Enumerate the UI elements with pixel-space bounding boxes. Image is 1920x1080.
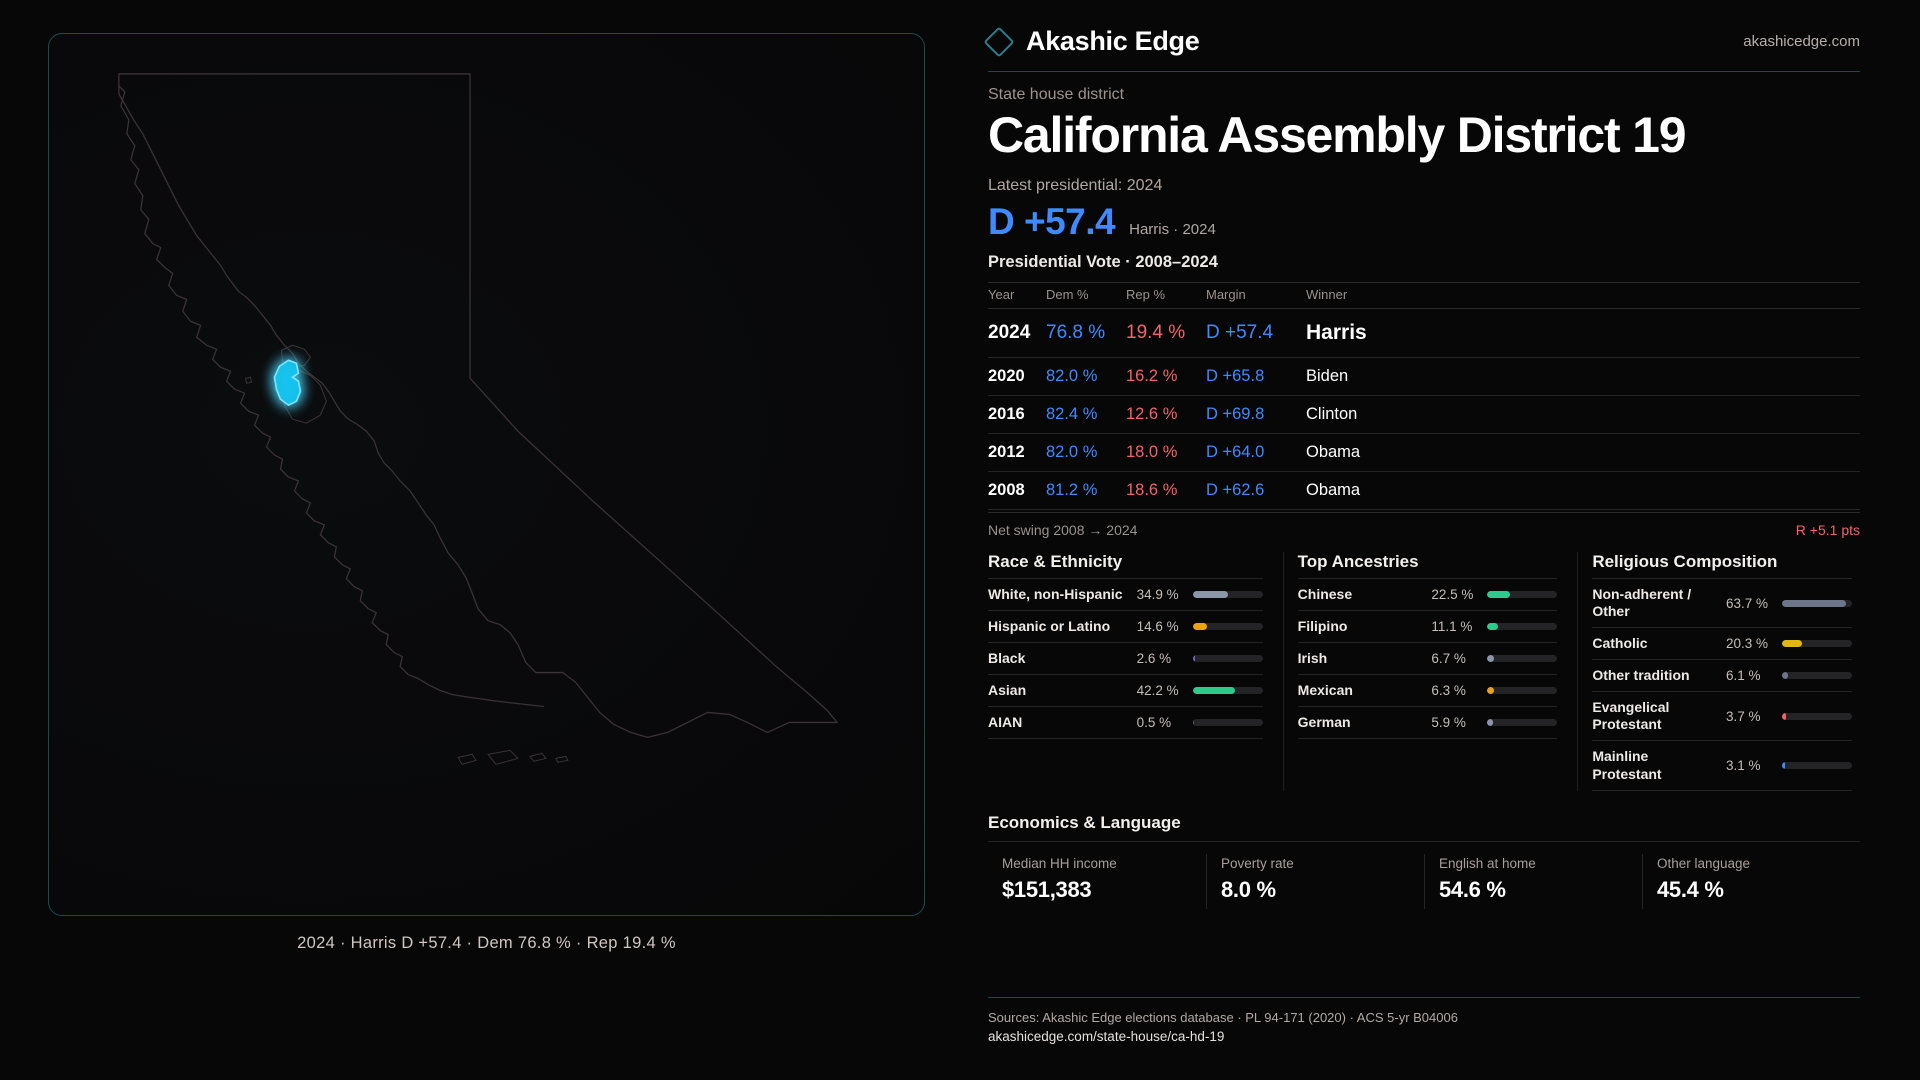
california-map-svg (49, 34, 924, 915)
demo-label: Mainline Protestant (1592, 748, 1726, 782)
econ-stat-label: English at home (1439, 856, 1628, 871)
cell-margin: D +64.0 (1206, 434, 1306, 472)
econ-stat-value: $151,383 (1002, 877, 1192, 903)
cell-dem: 82.4 % (1046, 396, 1126, 434)
demo-bar-track (1487, 719, 1557, 726)
table-row: 200881.2 %18.6 %D +62.6Obama (988, 472, 1860, 510)
cell-rep: 19.4 % (1126, 309, 1206, 358)
demo-label: Mexican (1298, 682, 1432, 699)
demo-bar-fill (1193, 687, 1235, 694)
map-caption: 2024 · Harris D +57.4 · Dem 76.8 % · Rep… (48, 934, 925, 953)
cell-year: 2020 (988, 358, 1046, 396)
demo-value: 20.3 % (1726, 636, 1782, 651)
demo-bar-track (1782, 762, 1852, 769)
demo-bar-fill (1193, 623, 1208, 630)
demo-bar-track (1487, 623, 1557, 630)
net-swing-label: Net swing 2008 → 2024 (988, 522, 1137, 538)
economics-title: Economics & Language (988, 813, 1860, 833)
footer-url[interactable]: akashicedge.com/state-house/ca-hd-19 (988, 1029, 1860, 1044)
demo-value: 11.1 % (1431, 619, 1487, 634)
cell-year: 2012 (988, 434, 1046, 472)
lake-tahoe (246, 377, 252, 383)
info-panel: Akashic Edge akashicedge.com State house… (960, 0, 1920, 1080)
demo-bar-track (1782, 640, 1852, 647)
demo-row: AIAN0.5 % (988, 706, 1263, 739)
demo-column-title: Race & Ethnicity (988, 552, 1263, 572)
col-rep: Rep % (1126, 283, 1206, 309)
demo-bar-fill (1487, 687, 1493, 694)
demo-bar-fill (1782, 600, 1846, 607)
demo-bar-fill (1487, 719, 1493, 726)
econ-stat: Median HH income$151,383 (988, 854, 1206, 909)
demo-value: 34.9 % (1137, 587, 1193, 602)
cell-margin: D +69.8 (1206, 396, 1306, 434)
demo-value: 2.6 % (1137, 651, 1193, 666)
demo-column: Top AncestriesChinese22.5 %Filipino11.1 … (1283, 552, 1566, 791)
econ-stat-label: Poverty rate (1221, 856, 1410, 871)
latest-presidential-label: Latest presidential: 2024 (988, 177, 1860, 195)
vote-table-body: 202476.8 %19.4 %D +57.4Harris202082.0 %1… (988, 309, 1860, 510)
demo-label: Asian (988, 682, 1137, 699)
margin-winner-year: Harris · 2024 (1129, 221, 1216, 238)
demo-label: White, non-Hispanic (988, 586, 1137, 603)
demo-bar-fill (1487, 623, 1498, 630)
econ-stat: English at home54.6 % (1424, 854, 1642, 909)
report-page: 2024 · Harris D +57.4 · Dem 76.8 % · Rep… (0, 0, 1920, 1080)
map-column: 2024 · Harris D +57.4 · Dem 76.8 % · Rep… (0, 0, 960, 1080)
demo-label: Hispanic or Latino (988, 618, 1137, 635)
table-row: 201282.0 %18.0 %D +64.0Obama (988, 434, 1860, 472)
demo-bar-track (1487, 655, 1557, 662)
demo-label: Non-adherent / Other (1592, 586, 1726, 620)
demo-bar-track (1193, 655, 1263, 662)
econ-stat-value: 54.6 % (1439, 877, 1628, 903)
econ-stat-value: 45.4 % (1657, 877, 1846, 903)
econ-stat: Other language45.4 % (1642, 854, 1860, 909)
net-swing-row: Net swing 2008 → 2024 R +5.1 pts (988, 512, 1860, 538)
demo-label: German (1298, 714, 1432, 731)
cell-margin: D +62.6 (1206, 472, 1306, 510)
demo-bar-fill (1782, 640, 1802, 647)
state-outline (119, 74, 837, 737)
demo-bar-track (1487, 591, 1557, 598)
demo-value: 3.1 % (1726, 758, 1782, 773)
sources-footer: Sources: Akashic Edge elections database… (988, 997, 1860, 1044)
headline-margin: D +57.4 Harris · 2024 (988, 201, 1860, 243)
demo-label: Black (988, 650, 1137, 667)
economics-grid: Median HH income$151,383Poverty rate8.0 … (988, 841, 1860, 909)
cell-rep: 18.0 % (1126, 434, 1206, 472)
cell-rep: 18.6 % (1126, 472, 1206, 510)
page-title: California Assembly District 19 (988, 108, 1860, 163)
cell-rep: 16.2 % (1126, 358, 1206, 396)
demo-row: Catholic20.3 % (1592, 627, 1852, 659)
econ-stat-label: Other language (1657, 856, 1846, 871)
cell-winner: Clinton (1306, 396, 1860, 434)
demo-bar-fill (1782, 672, 1788, 679)
cell-dem: 76.8 % (1046, 309, 1126, 358)
demo-bar-fill (1193, 591, 1228, 598)
demo-value: 63.7 % (1726, 596, 1782, 611)
demo-label: Catholic (1592, 635, 1726, 652)
demo-row: Mexican6.3 % (1298, 674, 1558, 706)
cell-dem: 81.2 % (1046, 472, 1126, 510)
demo-bar-fill (1487, 655, 1494, 662)
demo-bar-track (1193, 687, 1263, 694)
demo-value: 5.9 % (1431, 715, 1487, 730)
demo-bar-track (1782, 713, 1852, 720)
demo-row: White, non-Hispanic34.9 % (988, 578, 1263, 610)
net-swing-value: R +5.1 pts (1796, 522, 1860, 538)
cell-rep: 12.6 % (1126, 396, 1206, 434)
demo-bar-fill (1782, 713, 1786, 720)
demo-row: Black2.6 % (988, 642, 1263, 674)
cell-dem: 82.0 % (1046, 358, 1126, 396)
district-map[interactable] (48, 33, 925, 916)
demo-bar-track (1782, 672, 1852, 679)
demo-label: Filipino (1298, 618, 1432, 635)
demo-value: 42.2 % (1137, 683, 1193, 698)
demo-column: Religious CompositionNon-adherent / Othe… (1577, 552, 1860, 791)
channel-islands (458, 750, 568, 764)
sources-line: Sources: Akashic Edge elections database… (988, 1010, 1860, 1025)
diamond-icon (983, 26, 1014, 57)
demo-row: Chinese22.5 % (1298, 578, 1558, 610)
col-year: Year (988, 283, 1046, 309)
cell-margin: D +57.4 (1206, 309, 1306, 358)
demo-row: Evangelical Protestant3.7 % (1592, 691, 1852, 740)
demographics-grid: Race & EthnicityWhite, non-Hispanic34.9 … (988, 552, 1860, 791)
cell-winner: Harris (1306, 309, 1860, 358)
vote-section-label: Presidential Vote · 2008–2024 (988, 253, 1860, 272)
brand-name: Akashic Edge (1026, 26, 1199, 57)
demo-bar-fill (1193, 655, 1196, 662)
demo-bar-fill (1487, 591, 1510, 598)
demo-bar-track (1487, 687, 1557, 694)
cell-margin: D +65.8 (1206, 358, 1306, 396)
site-url[interactable]: akashicedge.com (1743, 33, 1860, 50)
brand-header: Akashic Edge akashicedge.com (988, 26, 1860, 72)
highlighted-district[interactable] (274, 360, 300, 405)
demo-value: 3.7 % (1726, 709, 1782, 724)
demo-value: 0.5 % (1137, 715, 1193, 730)
demo-bar-track (1782, 600, 1852, 607)
demo-row: Asian42.2 % (988, 674, 1263, 706)
demo-bar-track (1193, 623, 1263, 630)
econ-stat-label: Median HH income (1002, 856, 1192, 871)
demo-label: AIAN (988, 714, 1137, 731)
col-dem: Dem % (1046, 283, 1126, 309)
cell-dem: 82.0 % (1046, 434, 1126, 472)
demo-column-title: Religious Composition (1592, 552, 1852, 572)
demo-row: Other tradition6.1 % (1592, 659, 1852, 691)
demo-label: Other tradition (1592, 667, 1726, 684)
cell-year: 2024 (988, 309, 1046, 358)
demo-row: Filipino11.1 % (1298, 610, 1558, 642)
demo-value: 6.1 % (1726, 668, 1782, 683)
demo-bar-fill (1782, 762, 1785, 769)
demo-value: 6.7 % (1431, 651, 1487, 666)
demo-value: 14.6 % (1137, 619, 1193, 634)
demo-label: Evangelical Protestant (1592, 699, 1726, 733)
cell-winner: Obama (1306, 472, 1860, 510)
table-row: 202082.0 %16.2 %D +65.8Biden (988, 358, 1860, 396)
demo-column: Race & EthnicityWhite, non-Hispanic34.9 … (988, 552, 1271, 791)
demo-value: 6.3 % (1431, 683, 1487, 698)
demo-row: German5.9 % (1298, 706, 1558, 739)
demo-label: Chinese (1298, 586, 1432, 603)
cell-year: 2016 (988, 396, 1046, 434)
margin-value: D +57.4 (988, 201, 1115, 243)
demo-row: Irish6.7 % (1298, 642, 1558, 674)
cell-year: 2008 (988, 472, 1046, 510)
econ-stat: Poverty rate8.0 % (1206, 854, 1424, 909)
demo-row: Mainline Protestant3.1 % (1592, 740, 1852, 790)
presidential-vote-table: Year Dem % Rep % Margin Winner 202476.8 … (988, 282, 1860, 510)
cell-winner: Biden (1306, 358, 1860, 396)
demo-row: Hispanic or Latino14.6 % (988, 610, 1263, 642)
table-row: 201682.4 %12.6 %D +69.8Clinton (988, 396, 1860, 434)
demo-column-title: Top Ancestries (1298, 552, 1558, 572)
cell-winner: Obama (1306, 434, 1860, 472)
table-row: 202476.8 %19.4 %D +57.4Harris (988, 309, 1860, 358)
econ-stat-value: 8.0 % (1221, 877, 1410, 903)
col-margin: Margin (1206, 283, 1306, 309)
eyebrow-label: State house district (988, 86, 1860, 104)
demo-label: Irish (1298, 650, 1432, 667)
col-winner: Winner (1306, 283, 1860, 309)
demo-row: Non-adherent / Other63.7 % (1592, 578, 1852, 627)
demo-value: 22.5 % (1431, 587, 1487, 602)
table-header-row: Year Dem % Rep % Margin Winner (988, 283, 1860, 309)
demo-bar-track (1193, 591, 1263, 598)
demo-bar-track (1193, 719, 1263, 726)
